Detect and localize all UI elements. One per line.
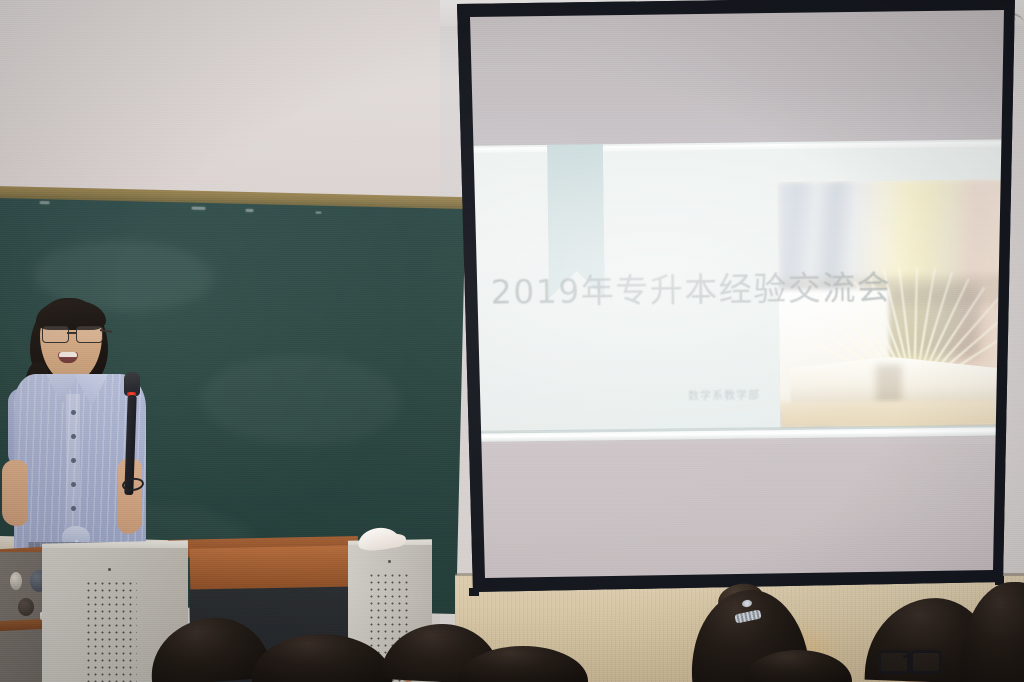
projected-slide: 2019年专升本经验交流会 数学系教学部 [459, 139, 1017, 442]
presenter-teeth [59, 352, 77, 357]
rack-knob-1[interactable] [10, 572, 22, 590]
slide-subtitle: 数学系教学部 [688, 386, 760, 403]
slide-title: 2019年专升本经验交流会 [490, 261, 891, 314]
projector-screen: 2019年专升本经验交流会 数学系教学部 [455, 0, 1017, 592]
eyeglasses-icon [40, 326, 104, 342]
presenter-shirt-placket [66, 394, 80, 546]
rack-knob-3[interactable] [18, 598, 34, 616]
presenter-speaker [0, 290, 200, 580]
screen-unlit-bottom [455, 444, 1017, 592]
presenter-arm-left [2, 460, 28, 526]
photo-scene: 2019年专升本经验交流会 数学系教学部 [0, 0, 1024, 682]
speaker-left-grille [85, 580, 137, 682]
audience-eyeglasses-icon [878, 650, 936, 672]
projector-screen-surface: 2019年专升本经验交流会 数学系教学部 [455, 0, 1017, 592]
screen-unlit-top [455, 0, 1017, 148]
